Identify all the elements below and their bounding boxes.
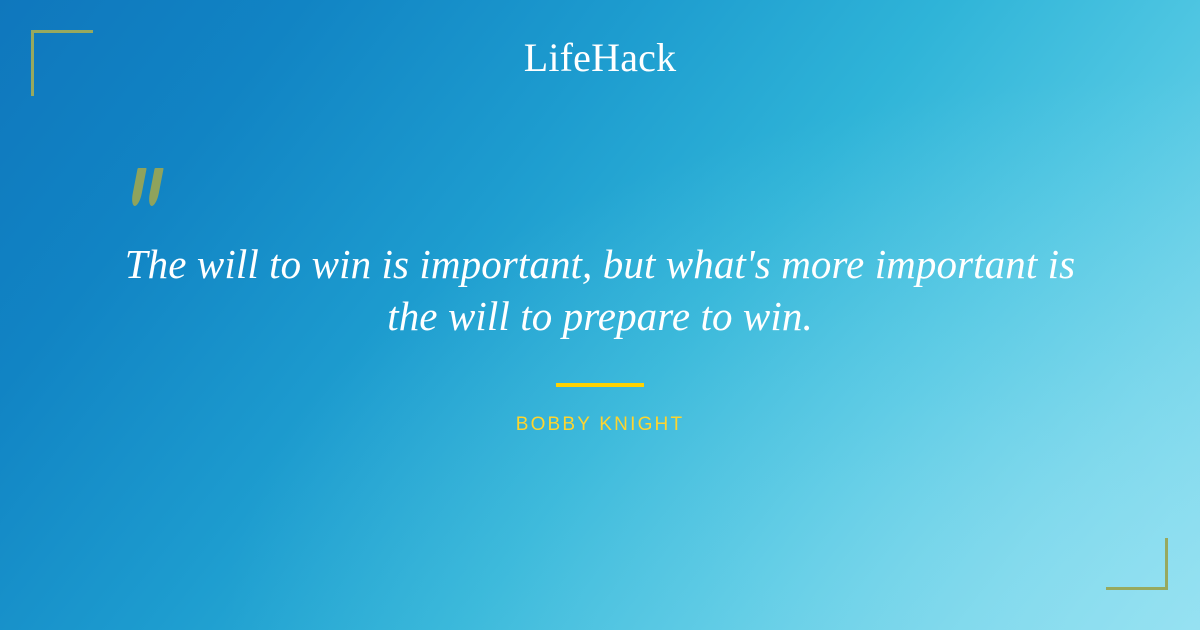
corner-bracket-bottom-line bbox=[1106, 587, 1168, 590]
quote-card: LifeHack The will to win is important, b… bbox=[0, 0, 1200, 630]
brand-logo: LifeHack bbox=[0, 36, 1200, 80]
quotation-mark-icon bbox=[130, 162, 174, 214]
quote-text: The will to win is important, but what's… bbox=[95, 160, 1105, 342]
divider-rule bbox=[556, 383, 644, 387]
corner-bracket-right-line bbox=[1165, 538, 1168, 590]
quote-block: The will to win is important, but what's… bbox=[0, 160, 1200, 342]
corner-bracket-top-line bbox=[31, 30, 93, 33]
corner-bracket-bottom-right-icon bbox=[1106, 538, 1168, 590]
quote-line-1: The will to win is important, but what's… bbox=[95, 238, 1105, 290]
quotation-mark-stroke-left bbox=[130, 168, 146, 206]
quotation-mark-stroke-right bbox=[147, 168, 163, 206]
quote-author: BOBBY KNIGHT bbox=[0, 414, 1200, 436]
quote-line-2: the will to prepare to win. bbox=[95, 290, 1105, 342]
